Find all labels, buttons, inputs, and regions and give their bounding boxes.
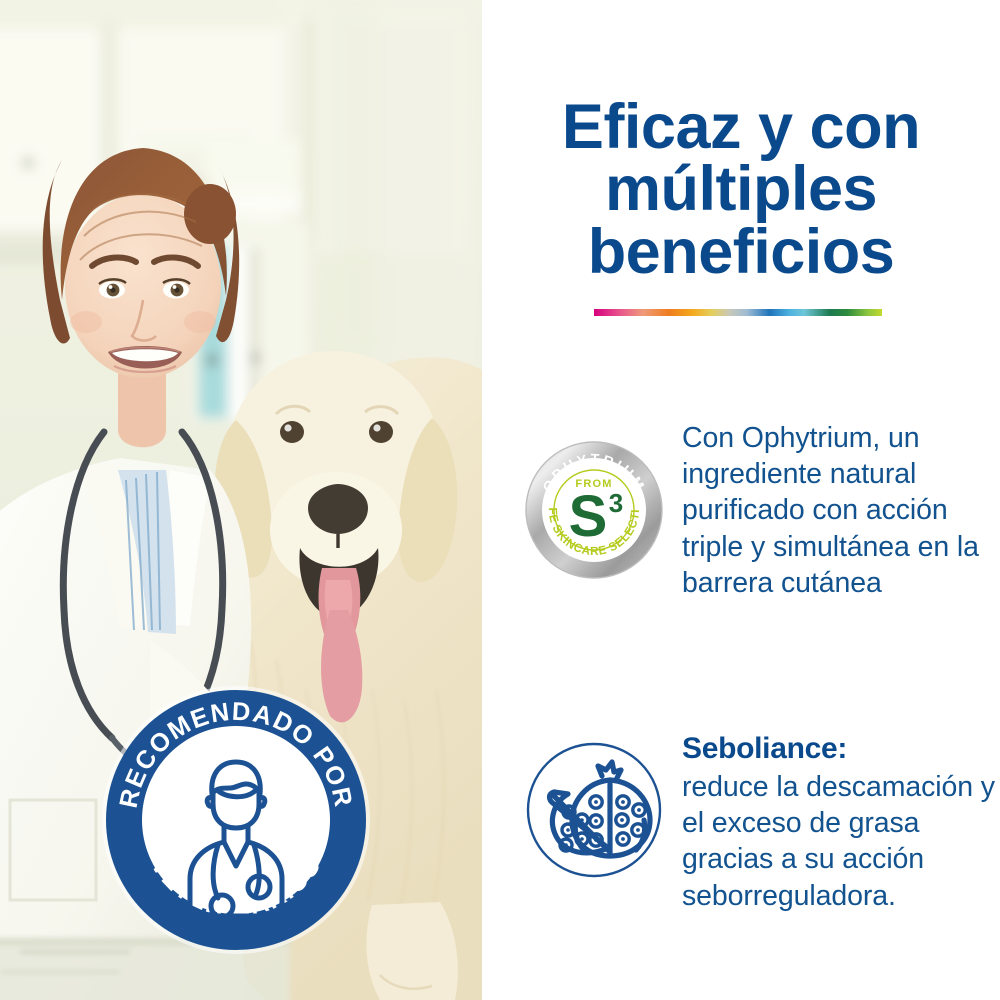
content-panel: Eficaz y con múltiples beneficios	[482, 0, 1000, 1000]
rainbow-gradient-divider	[594, 309, 882, 316]
seboliance-icon-slot	[506, 728, 682, 880]
ophytrium-s-mark: S	[569, 484, 608, 549]
ophytrium-superscript-3: 3	[609, 488, 623, 518]
ophytrium-badge-slot: OPHYTRIUM SAFE SKINCARE SELECTION FROM S…	[506, 418, 682, 580]
ophytrium-description-text: Con Ophytrium, un ingrediente natural pu…	[682, 420, 1000, 601]
recomendado-por-veterinarios-badge: RECOMENDADO POR VETERINARIOS	[100, 684, 372, 956]
veterinarian-with-golden-retriever-photo: RECOMENDADO POR VETERINARIOS	[0, 0, 482, 1000]
feature-ophytrium: OPHYTRIUM SAFE SKINCARE SELECTION FROM S…	[506, 418, 1000, 601]
ophytrium-description: Con Ophytrium, un ingrediente natural pu…	[682, 418, 1000, 601]
seboliance-title: Seboliance:	[682, 730, 1000, 768]
ophytrium-s3-badge: OPHYTRIUM SAFE SKINCARE SELECTION FROM S…	[524, 440, 664, 580]
page-title: Eficaz y con múltiples beneficios	[500, 96, 982, 283]
headline-line-3: beneficios	[500, 221, 982, 283]
pomegranate-icon	[524, 740, 664, 880]
seboliance-description-text: reduce la descamación y el exceso de gra…	[682, 769, 1000, 914]
feature-seboliance: Seboliance: reduce la descamación y el e…	[506, 728, 1000, 914]
seboliance-description: Seboliance: reduce la descamación y el e…	[682, 728, 1000, 914]
poster-root: RECOMENDADO POR VETERINARIOS	[0, 0, 1000, 1000]
headline-line-2: múltiples	[500, 158, 982, 220]
headline-line-1: Eficaz y con	[500, 96, 982, 158]
